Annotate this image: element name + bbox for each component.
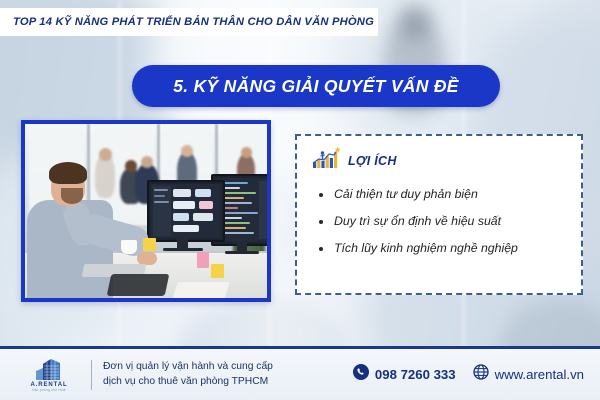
phone-icon [353,364,369,385]
photo-mousepad [107,274,170,296]
benefits-list: Cải thiện tư duy phản biện Duy trì sự ổn… [297,175,581,255]
brand-logo-tagline: Văn phòng cho thuê [32,388,66,392]
website-contact[interactable]: www.arental.vn [473,364,584,385]
section-title-text: 5. KỸ NĂNG GIẢI QUYẾT VẤN ĐỀ [173,76,459,97]
photo-sticky-note [211,264,224,278]
list-item: Duy trì sự ổn định về hiệu suất [319,214,581,228]
list-item: Cải thiện tư duy phản biện [319,187,581,201]
photo-person-beard [61,188,83,204]
headline-text: TOP 14 KỸ NĂNG PHÁT TRIỂN BẢN THÂN CHO D… [0,16,374,28]
benefits-title: LỢI ÍCH [348,154,397,168]
photo-coworker-head [141,156,153,168]
benefits-box: LỢI ÍCH Cải thiện tư duy phản biện Duy t… [295,134,583,295]
photo-monitor-base [163,248,203,251]
footer: A.RENTAL Văn phòng cho thuê Đơn vị quản … [0,349,600,400]
photo-frame [21,120,271,302]
slide-canvas: TOP 14 KỸ NĂNG PHÁT TRIỂN BẢN THÂN CHO D… [0,0,600,400]
section-title-pill: 5. KỸ NĂNG GIẢI QUYẾT VẤN ĐỀ [132,65,500,107]
photo-coworker-head [181,145,193,157]
phone-contact[interactable]: 098 7260 333 [353,364,456,385]
footer-tagline: Đơn vị quản lý vận hành và cung cấp dịch… [103,360,273,390]
photo-monitor-screen [151,184,221,238]
photo-sticky-note [143,238,156,251]
photo-person-hair [49,162,87,184]
photo-coworker-head [99,148,112,161]
footer-tagline-line2: dịch vụ cho thuê văn phòng TPHCM [103,375,273,390]
photo-coworker-head [241,147,252,158]
photo-coffee-cup [121,240,137,254]
headline-banner: TOP 14 KỸ NĂNG PHÁT TRIỂN BẢN THÂN CHO D… [0,8,378,36]
website-url: www.arental.vn [495,367,584,382]
office-photo [25,124,267,298]
building-icon [34,357,64,381]
list-item: Tích lũy kinh nghiệm nghề nghiệp [319,241,581,255]
photo-monitor-base [225,251,259,254]
photo-monitor-primary [147,180,225,242]
growth-chart-icon [311,146,341,175]
photo-sticky-note [197,252,209,268]
photo-coworker-head [125,160,137,172]
footer-divider [91,360,92,390]
benefits-header: LỢI ÍCH [297,136,581,175]
footer-contact-group: 098 7260 333 www.arental.vn [353,364,584,385]
brand-logo[interactable]: A.RENTAL Văn phòng cho thuê [18,357,80,392]
footer-tagline-line1: Đơn vị quản lý vận hành và cung cấp [103,360,273,375]
photo-paper [172,282,230,298]
globe-icon [473,364,489,385]
phone-number: 098 7260 333 [375,367,456,382]
